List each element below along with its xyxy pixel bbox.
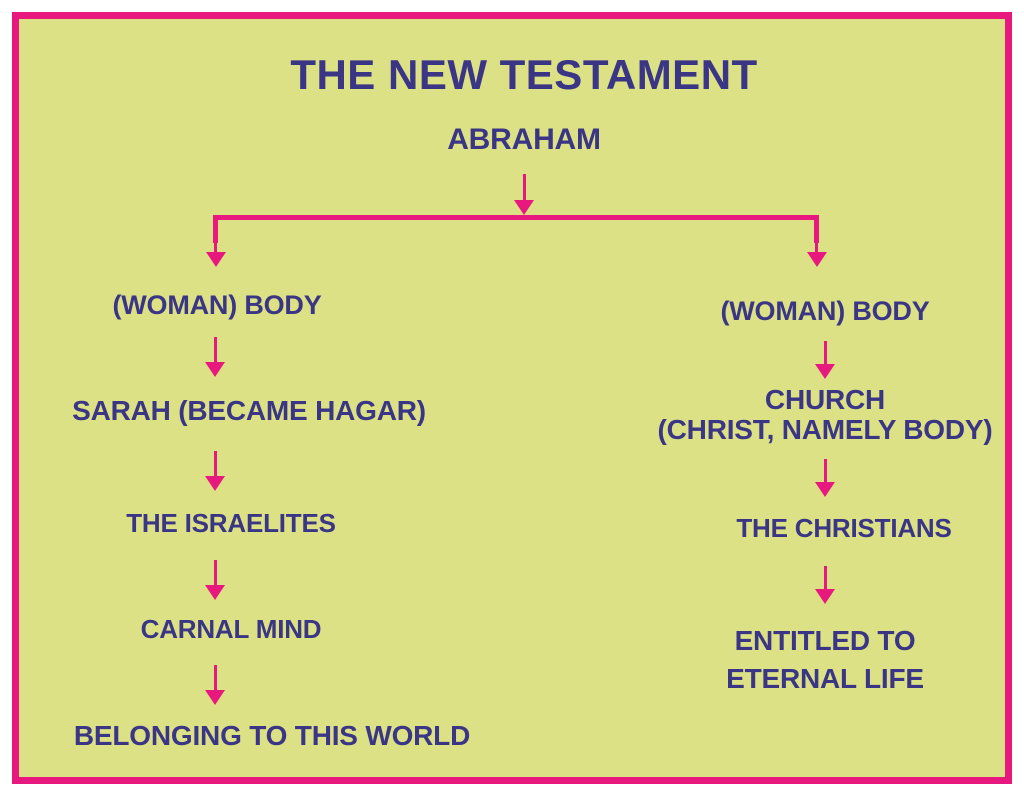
arrow-shaft <box>824 459 827 482</box>
node-right-woman-body: (WOMAN) BODY <box>720 297 929 326</box>
node-right-eternal-life-line1: ENTITLED TO <box>735 625 916 656</box>
arrow-split-to-right-branch <box>807 243 827 267</box>
node-left-woman-body: (WOMAN) BODY <box>112 291 321 320</box>
node-left-belonging-world: BELONGING TO THIS WORLD <box>74 721 470 751</box>
arrow-left-1 <box>205 337 225 377</box>
node-right-eternal-life: ENTITLED TO ETERNAL LIFE <box>726 622 924 698</box>
arrow-head-icon <box>205 690 225 705</box>
arrow-shaft <box>214 451 217 476</box>
arrow-shaft <box>214 665 217 690</box>
arrow-left-2 <box>205 451 225 491</box>
arrow-head-icon <box>815 482 835 497</box>
node-right-church: CHURCH (CHRIST, NAMELY BODY) <box>658 385 993 445</box>
arrow-left-3 <box>205 560 225 600</box>
diagram-frame: THE NEW TESTAMENT ABRAHAM (WOMAN) BODY S… <box>12 12 1012 784</box>
arrow-shaft <box>214 560 217 585</box>
arrow-right-3 <box>815 566 835 604</box>
arrow-head-icon <box>205 476 225 491</box>
node-right-church-line1: CHURCH <box>765 384 885 415</box>
diagram-page: THE NEW TESTAMENT ABRAHAM (WOMAN) BODY S… <box>0 0 1024 796</box>
arrow-shaft <box>824 341 827 364</box>
arrow-root-to-split <box>514 174 534 215</box>
node-left-sarah: SARAH (BECAME HAGAR) <box>72 396 426 426</box>
arrow-head-icon <box>815 364 835 379</box>
arrow-head-icon <box>514 200 534 215</box>
arrow-shaft <box>824 566 827 589</box>
node-left-carnal-mind: CARNAL MIND <box>141 615 322 643</box>
arrow-shaft <box>523 174 526 200</box>
page-title: THE NEW TESTAMENT <box>290 52 757 97</box>
node-left-israelites: THE ISRAELITES <box>126 509 336 537</box>
node-right-church-line2: (CHRIST, NAMELY BODY) <box>658 415 993 445</box>
arrow-left-4 <box>205 665 225 705</box>
branch-leg-right <box>814 215 819 243</box>
arrow-shaft <box>214 337 217 362</box>
node-abraham: ABRAHAM <box>447 124 601 156</box>
node-right-christians: THE CHRISTIANS <box>736 514 951 542</box>
arrow-head-icon <box>807 252 827 267</box>
arrow-head-icon <box>205 362 225 377</box>
arrow-right-2 <box>815 459 835 497</box>
arrow-right-1 <box>815 341 835 379</box>
node-right-eternal-life-line2: ETERNAL LIFE <box>726 660 924 698</box>
arrow-head-icon <box>206 252 226 267</box>
arrow-split-to-left-branch <box>206 243 226 267</box>
arrow-head-icon <box>205 585 225 600</box>
branch-bar <box>213 215 819 220</box>
arrow-head-icon <box>815 589 835 604</box>
branch-leg-left <box>213 215 218 243</box>
